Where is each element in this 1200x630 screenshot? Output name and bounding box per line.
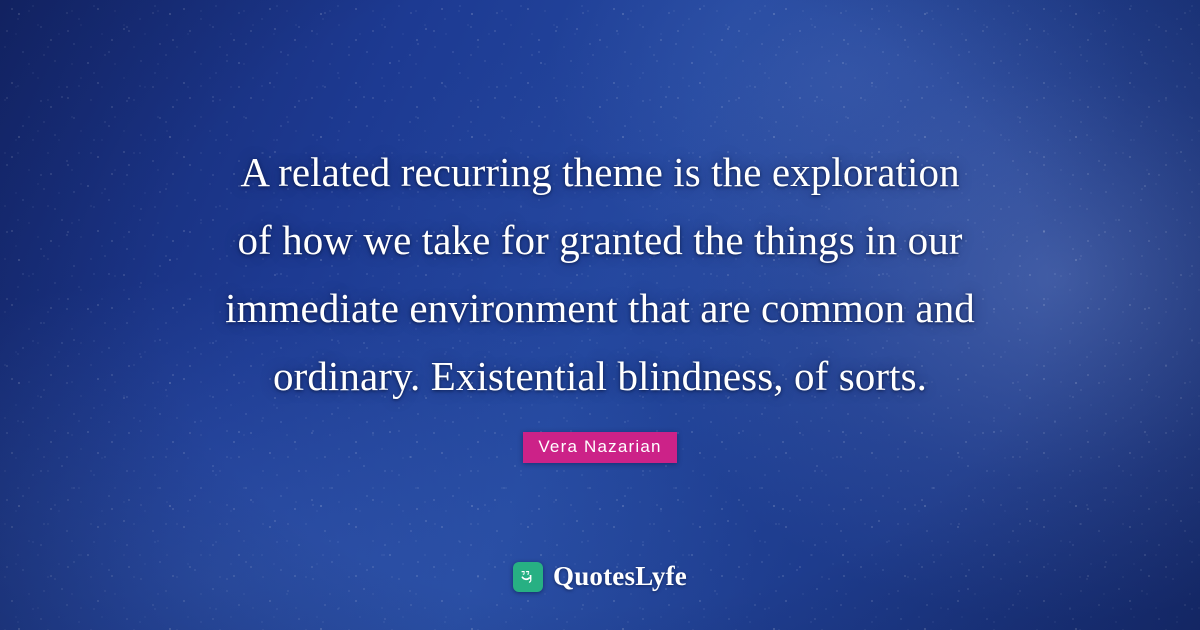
quoteslyfe-logo[interactable]: QuotesLyfe bbox=[513, 561, 687, 592]
author-section: Vera Nazarian bbox=[523, 432, 676, 463]
card-footer: QuotesLyfe bbox=[0, 561, 1200, 592]
card-content: A related recurring theme is the explora… bbox=[0, 0, 1200, 630]
quote-speech-bubble-icon bbox=[513, 562, 543, 592]
quote-line: A related recurring theme is the explora… bbox=[120, 138, 1080, 206]
quote-card: A related recurring theme is the explora… bbox=[0, 0, 1200, 630]
quote-line: of how we take for granted the things in… bbox=[120, 206, 1080, 274]
quote-text: A related recurring theme is the explora… bbox=[120, 138, 1080, 410]
quote-line: immediate environment that are common an… bbox=[120, 274, 1080, 342]
quote-line: ordinary. Existential blindness, of sort… bbox=[120, 342, 1080, 410]
author-badge[interactable]: Vera Nazarian bbox=[523, 432, 676, 463]
quoteslyfe-wordmark: QuotesLyfe bbox=[553, 561, 687, 592]
